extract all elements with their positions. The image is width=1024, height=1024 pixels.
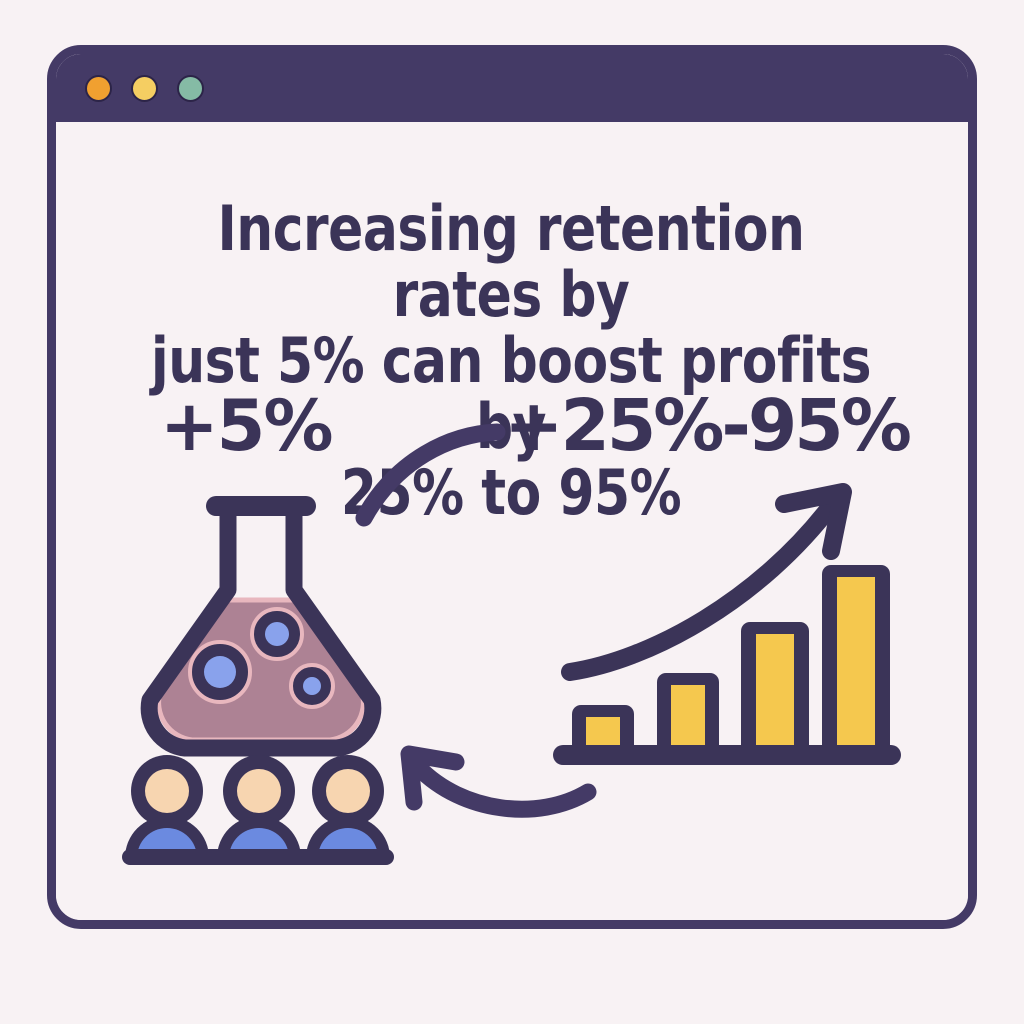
stat-profit-increase: +25%-95% bbox=[504, 391, 909, 461]
page-title: Increasing retention rates by just 5% ca… bbox=[144, 196, 879, 526]
browser-window-frame: Increasing retention rates by just 5% ca… bbox=[47, 45, 977, 929]
stat-retention-increase: +5% bbox=[160, 391, 332, 461]
maximize-dot[interactable] bbox=[177, 75, 204, 102]
window-title-bar bbox=[56, 54, 968, 122]
infographic-canvas: Increasing retention rates by just 5% ca… bbox=[0, 0, 1024, 1024]
close-dot[interactable] bbox=[85, 75, 112, 102]
minimize-dot[interactable] bbox=[131, 75, 158, 102]
window-content-area: Increasing retention rates by just 5% ca… bbox=[56, 122, 968, 920]
